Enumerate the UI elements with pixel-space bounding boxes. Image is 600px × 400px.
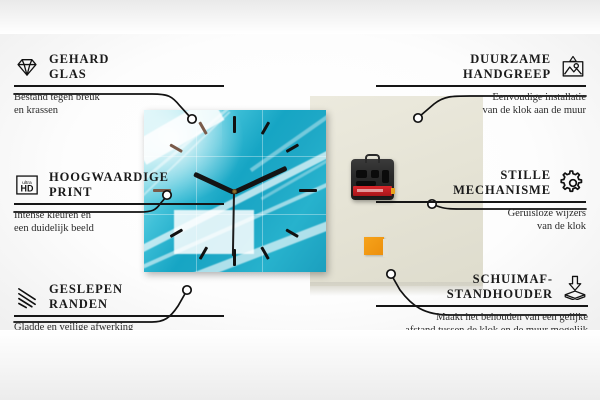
feature-subtitle-line2: en krassen [14, 105, 58, 116]
feature-title-line2: HANDGREEP [463, 67, 551, 81]
feature-subtitle-line1: Gladde en veilige afwerking [14, 322, 133, 333]
feature-subtitle-line1: Bestand tegen breuk [14, 92, 100, 103]
feature-head: GESLEPEN RANDEN [14, 282, 224, 311]
ultra-hd-icon-bottom: HD [21, 183, 34, 193]
feature-title-line2: MECHANISME [453, 183, 551, 197]
feature-title-line1: HOOGWAARDIGE [49, 170, 169, 184]
feature-head: DUURZAME HANDGREEP [376, 52, 586, 81]
feature-title: GESLEPEN RANDEN [49, 282, 123, 311]
feature-rule [14, 315, 224, 317]
feature-subtitle-line1: Maakt het behouden van een gelijke [436, 312, 588, 323]
feature-subtitle-line2: afstand tussen de klok en de muur mogeli… [405, 325, 588, 336]
feature-duurzame-handgreep: DUURZAME HANDGREEP Eenvoudige installati… [376, 52, 586, 117]
feature-rule [376, 305, 588, 307]
feature-subtitle: Intense kleuren en een duidelijk beeld [14, 209, 224, 235]
feature-gehard-glas: GEHARD GLAS Bestand tegen breuk en krass… [14, 52, 224, 117]
feature-subtitle-line2: van de klok aan de muur [482, 105, 586, 116]
picture-frame-icon [560, 54, 586, 80]
press-down-icon [562, 274, 588, 300]
feature-subtitle: Maakt het behouden van een gelijke afsta… [376, 311, 588, 337]
feature-head: STILLE MECHANISME [376, 168, 586, 197]
feature-title-line1: SCHUIMAF- [473, 272, 553, 286]
feature-hoogwaardige-print: ultra HD HOOGWAARDIGE PRINT Intense kleu… [14, 170, 224, 235]
feature-stille-mechanisme: STILLE MECHANISME Geruisloze wijzers van… [376, 168, 586, 233]
feature-head: GEHARD GLAS [14, 52, 224, 81]
feature-title: SCHUIMAF- STANDHOUDER [447, 272, 553, 301]
feature-title-line2: STANDHOUDER [447, 287, 553, 301]
feature-rule [14, 85, 224, 87]
feature-title-line2: RANDEN [49, 297, 108, 311]
feature-subtitle: Geruisloze wijzers van de klok [376, 207, 586, 233]
feature-rule [376, 201, 586, 203]
feature-subtitle-line1: Intense kleuren en [14, 210, 91, 221]
feature-subtitle-line1: Geruisloze wijzers [508, 208, 586, 219]
feature-subtitle: Bestand tegen breuk en krassen [14, 91, 224, 117]
ultra-hd-icon: ultra HD [14, 172, 40, 198]
feature-title-line1: GEHARD [49, 52, 109, 66]
feature-title: GEHARD GLAS [49, 52, 109, 81]
diamond-icon [14, 54, 40, 80]
feature-rule [14, 203, 224, 205]
feature-title-line1: STILLE [500, 168, 551, 182]
feature-title: DUURZAME HANDGREEP [463, 52, 551, 81]
infographic-canvas: GEHARD GLAS Bestand tegen breuk en krass… [0, 0, 600, 400]
feature-subtitle-line2: een duidelijk beeld [14, 223, 94, 234]
feature-title-line2: PRINT [49, 185, 92, 199]
gear-icon [560, 170, 586, 196]
feature-geslepen-randen: GESLEPEN RANDEN Gladde en veilige afwerk… [14, 282, 224, 334]
beveled-edges-icon [14, 284, 40, 310]
feature-subtitle-line2: van de klok [537, 221, 586, 232]
feature-schuimafstandhouder: SCHUIMAF- STANDHOUDER Maakt het behouden… [376, 272, 588, 337]
feature-subtitle-line1: Eenvoudige installatie [492, 92, 586, 103]
feature-title: STILLE MECHANISME [453, 168, 551, 197]
feature-title-line1: GESLEPEN [49, 282, 123, 296]
feature-subtitle: Gladde en veilige afwerking [14, 321, 224, 334]
feature-title: HOOGWAARDIGE PRINT [49, 170, 169, 199]
feature-rule [376, 85, 586, 87]
feature-subtitle: Eenvoudige installatie van de klok aan d… [376, 91, 586, 117]
feature-head: SCHUIMAF- STANDHOUDER [376, 272, 588, 301]
feature-head: ultra HD HOOGWAARDIGE PRINT [14, 170, 224, 199]
feature-title-line2: GLAS [49, 67, 87, 81]
feature-title-line1: DUURZAME [470, 52, 551, 66]
